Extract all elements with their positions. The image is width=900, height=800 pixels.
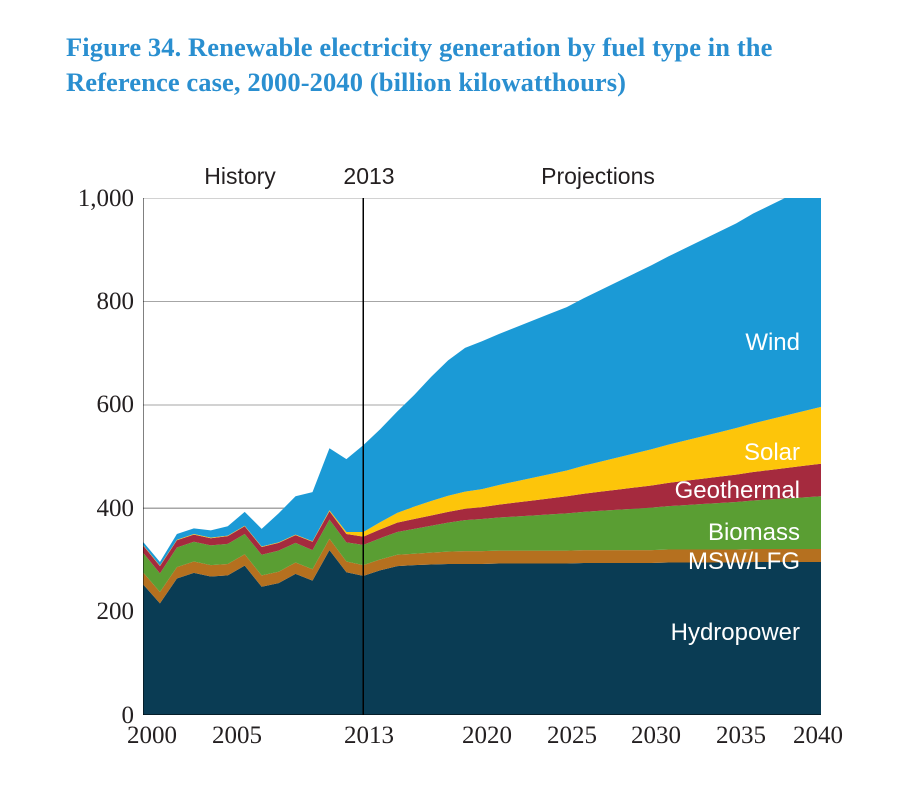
annotation-divider-year: 2013 xyxy=(343,165,394,188)
x-tick-2000: 2000 xyxy=(127,723,177,748)
series-label-solar: Solar xyxy=(744,441,800,465)
series-label-wind: Wind xyxy=(745,331,800,355)
figure-container: Figure 34. Renewable electricity generat… xyxy=(0,0,900,800)
x-tick-2025: 2025 xyxy=(547,723,597,748)
x-tick-2005: 2005 xyxy=(212,723,262,748)
period-annotations: History 2013 Projections xyxy=(0,165,900,195)
x-tick-2013: 2013 xyxy=(344,723,394,748)
y-tick-200: 200 xyxy=(14,599,134,624)
y-tick-600: 600 xyxy=(14,392,134,417)
x-tick-2020: 2020 xyxy=(462,723,512,748)
y-tick-1000: 1,000 xyxy=(14,186,134,211)
x-tick-2040: 2040 xyxy=(793,723,843,748)
y-tick-400: 400 xyxy=(14,496,134,521)
series-label-msw-lfg: MSW/LFG xyxy=(688,550,800,574)
x-tick-2035: 2035 xyxy=(716,723,766,748)
figure-title: Figure 34. Renewable electricity generat… xyxy=(66,30,806,100)
annotation-projections: Projections xyxy=(541,165,655,188)
series-label-biomass: Biomass xyxy=(708,521,800,545)
series-label-geothermal: Geothermal xyxy=(675,479,800,503)
annotation-history: History xyxy=(204,165,276,188)
x-axis-labels: 2000 2005 2013 2020 2025 2030 2035 2040 xyxy=(0,723,900,767)
y-tick-800: 800 xyxy=(14,289,134,314)
series-label-hydropower: Hydropower xyxy=(671,621,800,645)
x-tick-2030: 2030 xyxy=(631,723,681,748)
y-axis-labels: 1,000 800 600 400 200 0 xyxy=(0,0,134,800)
